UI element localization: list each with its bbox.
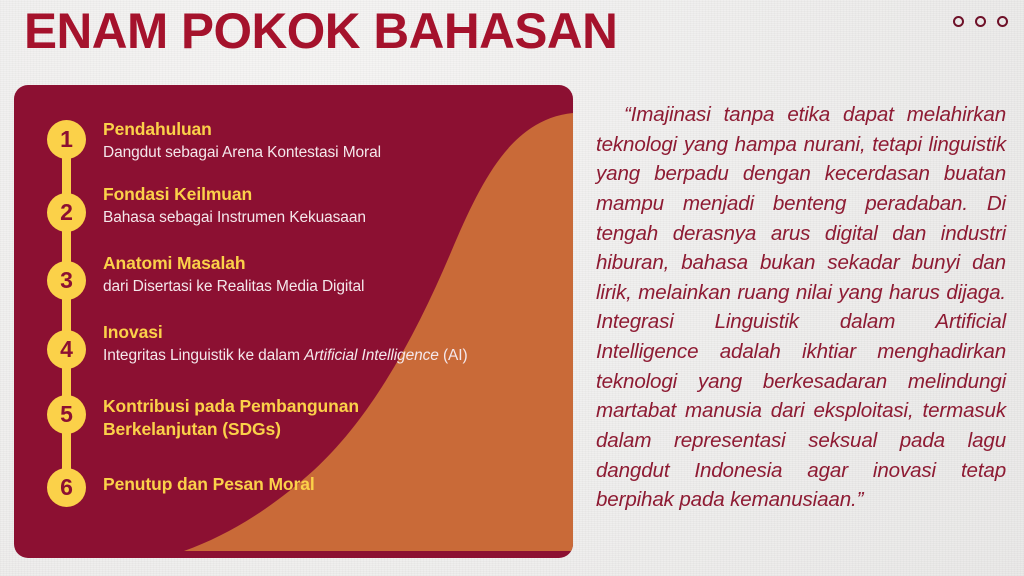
step-subtitle-2: Bahasa sebagai Instrumen Kekuasaan: [103, 207, 533, 228]
step-subtitle-3: dari Disertasi ke Realitas Media Digital: [103, 276, 533, 297]
quote-text: “Imajinasi tanpa etika dapat melahirkan …: [596, 100, 1006, 515]
timeline: 1 Pendahuluan Dangdut sebagai Arena Kont…: [14, 85, 573, 558]
step-item-1[interactable]: Pendahuluan Dangdut sebagai Arena Kontes…: [103, 118, 533, 163]
circle-outline-icon-2: [975, 16, 986, 27]
step-subtitle-4-pre: Integritas Linguistik ke dalam: [103, 347, 304, 364]
quote-panel: “Imajinasi tanpa etika dapat melahirkan …: [596, 100, 1006, 566]
step-subtitle-4-italic: Artificial Intelligence: [304, 347, 439, 364]
step-number-4[interactable]: 4: [47, 330, 86, 369]
step-number-2[interactable]: 2: [47, 193, 86, 232]
page-title: ENAM POKOK BAHASAN: [24, 5, 617, 58]
outline-panel: 1 Pendahuluan Dangdut sebagai Arena Kont…: [14, 85, 573, 558]
timeline-spine: [62, 130, 71, 495]
step-subtitle-4: Integritas Linguistik ke dalam Artificia…: [103, 345, 533, 366]
step-title-4: Inovasi: [103, 321, 533, 344]
step-subtitle-1: Dangdut sebagai Arena Kontestasi Moral: [103, 142, 533, 163]
step-title-2: Fondasi Keilmuan: [103, 183, 533, 206]
step-title-1: Pendahuluan: [103, 118, 533, 141]
presentation-slide: ENAM POKOK BAHASAN 1 Pendahuluan Dangdut…: [0, 0, 1024, 576]
step-subtitle-4-post: (AI): [439, 347, 468, 364]
step-item-6[interactable]: Penutup dan Pesan Moral: [103, 473, 533, 497]
step-number-6[interactable]: 6: [47, 468, 86, 507]
step-number-1[interactable]: 1: [47, 120, 86, 159]
step-item-2[interactable]: Fondasi Keilmuan Bahasa sebagai Instrume…: [103, 183, 533, 228]
step-number-5[interactable]: 5: [47, 395, 86, 434]
header-dots-group: [953, 16, 1008, 27]
step-number-3[interactable]: 3: [47, 261, 86, 300]
step-item-5[interactable]: Kontribusi pada Pembangunan Berkelanjuta…: [103, 395, 433, 442]
step-item-3[interactable]: Anatomi Masalah dari Disertasi ke Realit…: [103, 252, 533, 297]
step-item-4[interactable]: Inovasi Integritas Linguistik ke dalam A…: [103, 321, 533, 366]
step-title-6: Penutup dan Pesan Moral: [103, 473, 533, 496]
circle-outline-icon-3: [997, 16, 1008, 27]
step-title-5: Kontribusi pada Pembangunan Berkelanjuta…: [103, 395, 433, 441]
circle-outline-icon-1: [953, 16, 964, 27]
step-title-3: Anatomi Masalah: [103, 252, 533, 275]
